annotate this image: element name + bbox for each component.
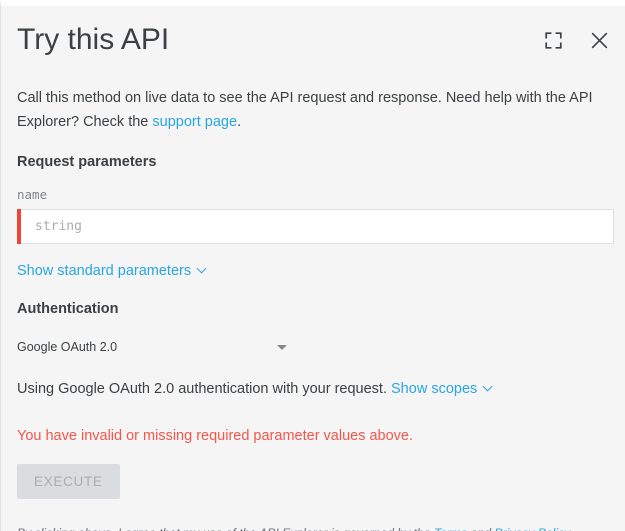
param-label-name: name: [17, 187, 609, 202]
auth-note-text: Using Google OAuth 2.0 authentication wi…: [17, 381, 387, 397]
show-scopes-toggle[interactable]: Show scopes: [391, 379, 493, 399]
dropdown-arrow-icon: [277, 345, 287, 350]
validation-error-message: You have invalid or missing required par…: [17, 426, 609, 446]
invalid-indicator-bar: [17, 209, 21, 244]
panel-header: Try this API: [1, 6, 625, 62]
legal-footer-text-after: .: [569, 526, 572, 531]
auth-note: Using Google OAuth 2.0 authentication wi…: [17, 379, 609, 399]
authentication-heading: Authentication: [17, 301, 609, 317]
support-page-link[interactable]: support page: [152, 114, 237, 130]
auth-method-selected-value: Google OAuth 2.0: [17, 338, 117, 356]
privacy-policy-link[interactable]: Privacy Policy: [494, 526, 569, 531]
fullscreen-icon[interactable]: [543, 30, 563, 50]
intro-text-before: Call this method on live data to see the…: [17, 90, 593, 130]
show-scopes-label: Show scopes: [391, 379, 477, 399]
intro-text: Call this method on live data to see the…: [17, 86, 609, 134]
show-standard-parameters-label: Show standard parameters: [17, 261, 191, 281]
terms-link[interactable]: Terms: [434, 526, 467, 531]
param-input-name[interactable]: [17, 210, 613, 243]
legal-footer: By clicking above, I agree that my use o…: [17, 524, 609, 531]
auth-method-select[interactable]: Google OAuth 2.0: [17, 333, 293, 361]
chevron-down-icon: [484, 383, 493, 392]
execute-button[interactable]: EXECUTE: [17, 464, 120, 499]
legal-footer-text-before: By clicking above, I agree that my use o…: [17, 526, 434, 531]
param-field-name-wrapper: [17, 209, 614, 244]
header-actions: [543, 22, 609, 50]
close-icon[interactable]: [589, 30, 609, 50]
legal-footer-text-middle: and: [467, 526, 494, 531]
panel-content: Call this method on live data to see the…: [1, 86, 625, 531]
intro-text-after: .: [237, 114, 241, 130]
show-standard-parameters-toggle[interactable]: Show standard parameters: [17, 261, 207, 281]
try-this-api-panel: Try this API Call this method on live da…: [0, 0, 625, 531]
request-parameters-heading: Request parameters: [17, 154, 609, 170]
chevron-down-icon: [198, 265, 207, 274]
page-title: Try this API: [17, 22, 169, 58]
